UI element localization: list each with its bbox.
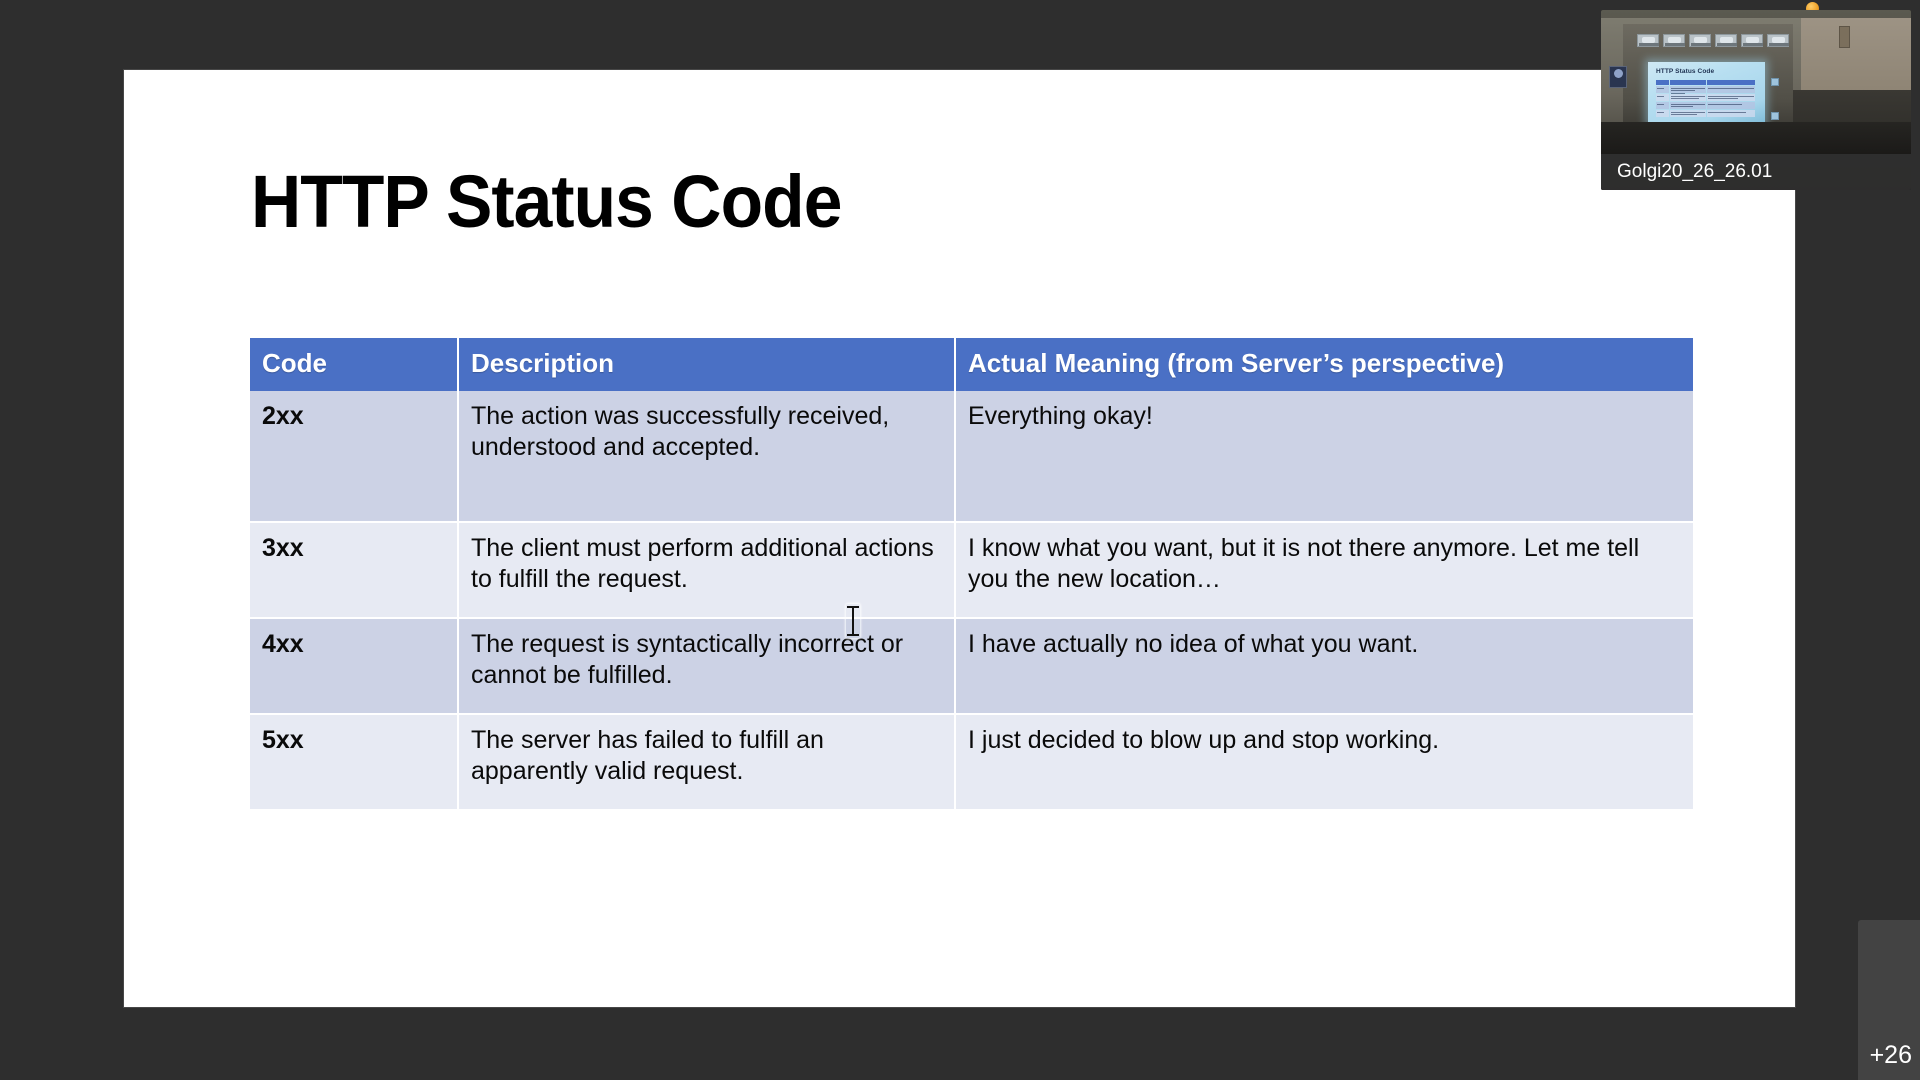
table-row: 3xx The client must perform additional a… <box>250 522 1693 618</box>
participant-video-tile[interactable]: HTTP Status Code <box>1601 10 1911 190</box>
participant-name-label: Golgi20_26_26.01 <box>1617 161 1772 183</box>
projection-screen: HTTP Status Code <box>1648 62 1765 124</box>
ceiling-light-panels <box>1637 34 1789 47</box>
cell-meaning: Everything okay! <box>955 391 1693 522</box>
cell-code: 2xx <box>250 391 458 522</box>
cell-meaning: I have actually no idea of what you want… <box>955 618 1693 714</box>
cell-description: The action was successfully received, un… <box>458 391 955 522</box>
projected-slide-title: HTTP Status Code <box>1656 68 1714 75</box>
cell-description: The client must perform additional actio… <box>458 522 955 618</box>
table-row: 5xx The server has failed to fulfill an … <box>250 714 1693 810</box>
cell-code: 4xx <box>250 618 458 714</box>
wall-right <box>1801 18 1911 98</box>
table-header-row: Code Description Actual Meaning (from Se… <box>250 338 1693 391</box>
wall-speaker-lower <box>1771 112 1779 120</box>
column-header-actual-meaning: Actual Meaning (from Server’s perspectiv… <box>955 338 1693 391</box>
cell-meaning: I know what you want, but it is not ther… <box>955 522 1693 618</box>
cell-description: The request is syntactically incorrect o… <box>458 618 955 714</box>
wall-speaker-upper <box>1771 78 1779 86</box>
shared-slide[interactable]: HTTP Status Code Code Description Actual… <box>124 70 1795 1007</box>
column-header-description: Description <box>458 338 955 391</box>
column-header-code: Code <box>250 338 458 391</box>
participant-name-bar: Golgi20_26_26.01 <box>1601 154 1911 190</box>
wall-plaque <box>1609 66 1627 88</box>
cell-meaning: I just decided to blow up and stop worki… <box>955 714 1693 810</box>
table-row: 2xx The action was successfully received… <box>250 391 1693 522</box>
http-status-code-table: Code Description Actual Meaning (from Se… <box>250 338 1693 811</box>
wall-mounted-box <box>1839 26 1850 48</box>
cell-code: 5xx <box>250 714 458 810</box>
overflow-participants-tile[interactable]: +26 <box>1858 920 1920 1080</box>
foreground-desk <box>1601 122 1911 154</box>
cell-description: The server has failed to fulfill an appa… <box>458 714 955 810</box>
slide-title: HTTP Status Code <box>251 165 841 239</box>
overflow-participants-count: +26 <box>1870 1041 1912 1070</box>
table-row: 4xx The request is syntactically incorre… <box>250 618 1693 714</box>
cell-code: 3xx <box>250 522 458 618</box>
projected-slide-table <box>1656 80 1755 117</box>
meeting-screen-share-view: HTTP Status Code Code Description Actual… <box>0 0 1920 1080</box>
